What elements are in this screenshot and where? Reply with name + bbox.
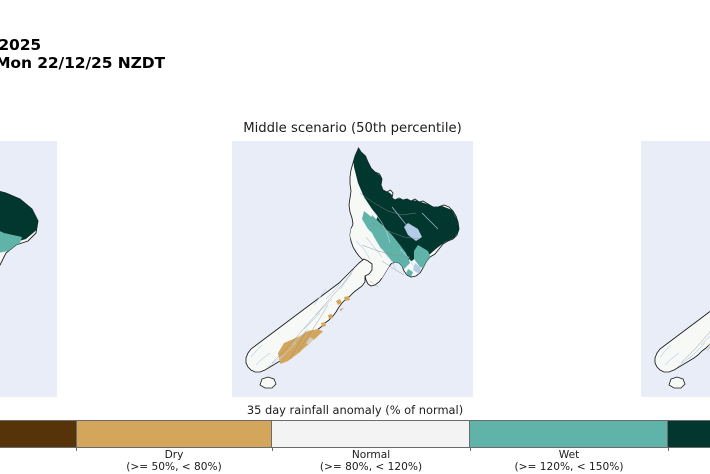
legend-swatch-normal [271,421,469,447]
legend-color-bar [0,420,710,448]
legend-label-range: (>= 120%, < 150%) [470,461,668,473]
legend-swatch-extreme-4 [667,421,710,447]
legend-label-dry: Dry(>= 50%, < 80%) [76,449,272,474]
legend-label-range: (>= 80%, < 120%) [272,461,470,473]
forecast-map-page: 5 days TC Tue 18/11/2025 1/25 - 01 PM Mo… [0,0,710,473]
title-line-1: 5 days [0,18,702,36]
methodology-note-line-2: sum of a 35 day [0,100,302,110]
map-wetter [641,141,710,397]
map-drier [0,141,57,397]
legend-tick [76,448,77,451]
methodology-note-line-1: atology and the [0,90,302,100]
legend-label-name: Dry [76,449,272,461]
panel-title-middle: Middle scenario (50th percentile) [232,121,473,136]
legend-label-normal: Normal(>= 80%, < 120%) [272,449,470,474]
map-panel-drier[interactable] [0,141,57,397]
header-block: 5 days TC Tue 18/11/2025 1/25 - 01 PM Mo… [0,18,702,72]
legend-swatch-dry [76,421,272,447]
legend-caption: 35 day rainfall anomaly (% of normal) [0,403,710,417]
map-middle [232,141,473,397]
legend-swatch-wet [469,421,667,447]
methodology-note-line-3: CSN. [0,109,302,119]
title-line-3: 1/25 - 01 PM Mon 22/12/25 NZDT [0,54,702,72]
legend-label-name: Normal [272,449,470,461]
legend-swatch-extreme-0 [0,421,76,447]
legend-tick [272,448,273,451]
panel-title-wetter: Wetter sc [641,121,710,136]
legend-tick [668,448,669,451]
legend-label-range: (>= 50%, < 80%) [76,461,272,473]
map-panel-middle[interactable] [232,141,473,397]
legend-label-wet: Wet(>= 120%, < 150%) [470,449,668,474]
panel-title-drier: centile) [0,121,57,136]
legend-labels: Dry(>= 50%, < 80%)Normal(>= 80%, < 120%)… [0,449,710,473]
map-panel-wetter[interactable] [641,141,710,397]
legend-tick [470,448,471,451]
title-line-2: TC Tue 18/11/2025 [0,36,702,54]
legend-label-name: Wet [470,449,668,461]
methodology-note: atology and the sum of a 35 day CSN. [0,90,302,119]
